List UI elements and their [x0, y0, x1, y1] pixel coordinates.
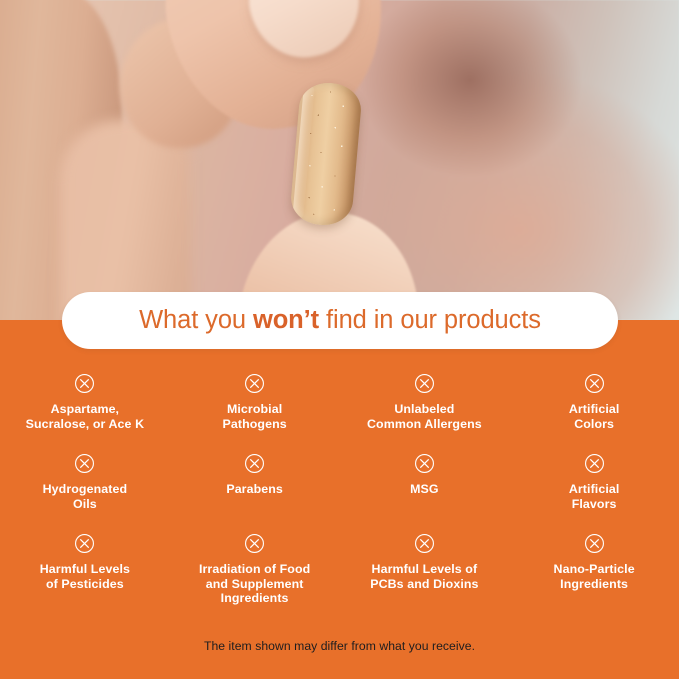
disclaimer-text: The item shown may differ from what you …: [0, 639, 679, 653]
product-claims-infographic: What you won’t find in our products Aspa…: [0, 0, 679, 679]
grid-item-label: MicrobialPathogens: [218, 402, 292, 431]
grid-item-label: ArtificialColors: [564, 402, 625, 431]
grid-item: Harmful Levelsof Pesticides: [0, 522, 170, 602]
circle-x-icon: [244, 453, 265, 474]
headline-emphasis: won’t: [253, 306, 319, 334]
circle-x-icon: [414, 533, 435, 554]
grid-item: MicrobialPathogens: [170, 362, 340, 442]
supplement-tablet: [289, 81, 363, 228]
grid-item-label: Harmful Levels ofPCBs and Dioxins: [365, 562, 483, 591]
grid-item-label: UnlabeledCommon Allergens: [362, 402, 487, 431]
circle-x-icon: [244, 533, 265, 554]
grid-item: Aspartame,Sucralose, or Ace K: [0, 362, 170, 442]
grid-item: Harmful Levels ofPCBs and Dioxins: [340, 522, 510, 602]
circle-x-icon: [584, 533, 605, 554]
grid-item: Nano-ParticleIngredients: [509, 522, 679, 602]
grid-item: UnlabeledCommon Allergens: [340, 362, 510, 442]
grid-item-label: HydrogenatedOils: [38, 482, 133, 511]
grid-item: Parabens: [170, 442, 340, 522]
circle-x-icon: [584, 373, 605, 394]
grid-item-label: ArtificialFlavors: [564, 482, 625, 511]
headline-text: What you won’t find in our products: [139, 306, 541, 335]
grid-item: ArtificialFlavors: [509, 442, 679, 522]
headline-part-before: What you: [139, 306, 253, 334]
grid-item: ArtificialColors: [509, 362, 679, 442]
circle-x-icon: [74, 533, 95, 554]
grid-item-label: Parabens: [221, 482, 288, 497]
grid-item: Irradiation of Foodand SupplementIngredi…: [170, 522, 340, 602]
circle-x-icon: [584, 453, 605, 474]
grid-item-label: Irradiation of Foodand SupplementIngredi…: [194, 562, 315, 606]
excluded-ingredients-grid: Aspartame,Sucralose, or Ace K MicrobialP…: [0, 362, 679, 602]
grid-item-label: Aspartame,Sucralose, or Ace K: [21, 402, 150, 431]
circle-x-icon: [414, 453, 435, 474]
grid-item: HydrogenatedOils: [0, 442, 170, 522]
grid-item: MSG: [340, 442, 510, 522]
circle-x-icon: [74, 453, 95, 474]
grid-item-label: Nano-ParticleIngredients: [549, 562, 640, 591]
grid-item-label: Harmful Levelsof Pesticides: [35, 562, 135, 591]
headline-banner: What you won’t find in our products: [62, 292, 618, 349]
headline-part-after: find in our products: [319, 306, 541, 334]
grid-item-label: MSG: [405, 482, 444, 497]
circle-x-icon: [244, 373, 265, 394]
tablet-speckles: [289, 81, 363, 228]
circle-x-icon: [414, 373, 435, 394]
circle-x-icon: [74, 373, 95, 394]
photo-palm: [60, 120, 190, 320]
product-photo: [0, 0, 679, 320]
